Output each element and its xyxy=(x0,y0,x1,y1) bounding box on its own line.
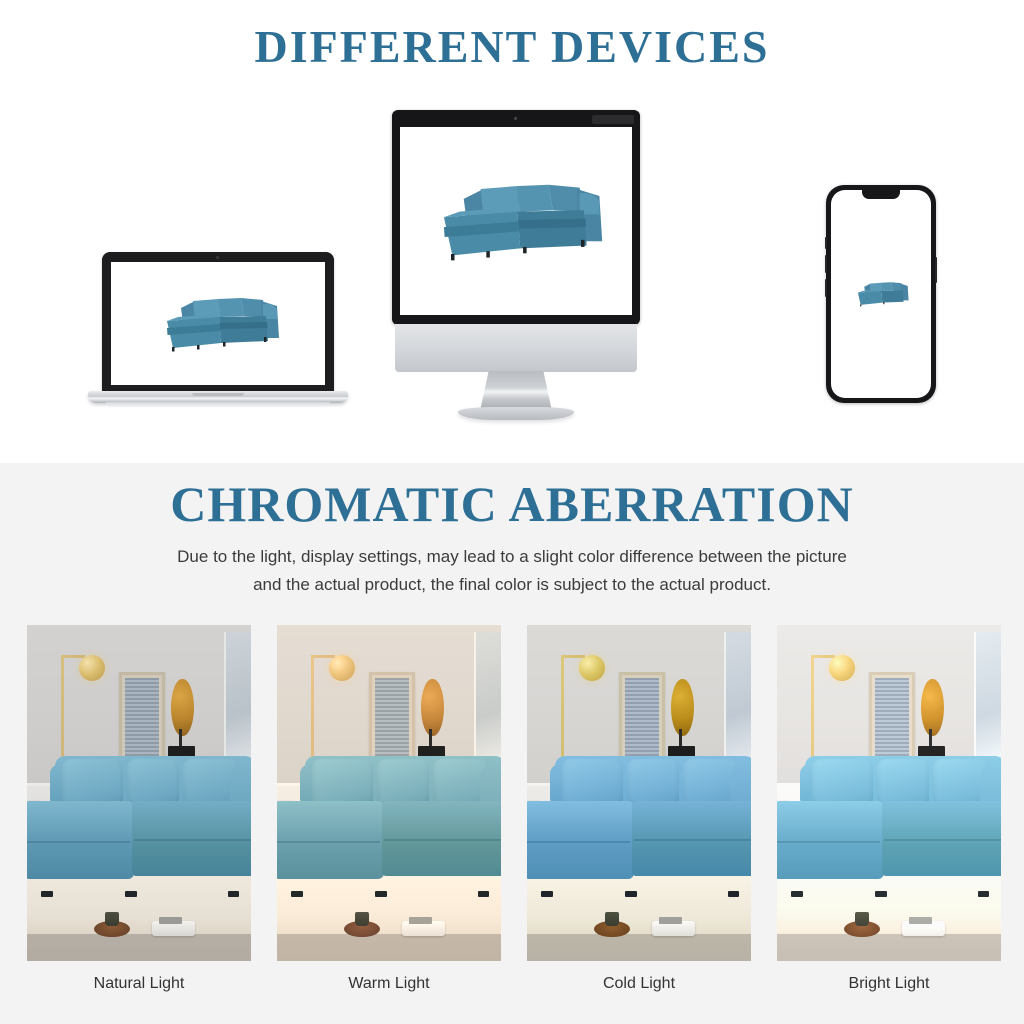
wall-artwork-right xyxy=(724,632,751,766)
seat-seam xyxy=(27,841,129,843)
artwork-canvas xyxy=(125,678,159,763)
tray-contents xyxy=(159,917,181,924)
phone-device xyxy=(826,185,936,403)
sphere-sculpture xyxy=(171,679,193,736)
floor-lamp-arm xyxy=(61,655,86,658)
coffee-cup xyxy=(855,912,868,925)
chromatic-aberration-description: Due to the light, display settings, may … xyxy=(100,543,924,599)
seat-seam xyxy=(777,841,879,843)
light-variant-label: Natural Light xyxy=(27,975,251,993)
seat-seam xyxy=(277,841,379,843)
monitor-chin xyxy=(395,324,637,372)
floor-lamp-arm xyxy=(311,655,336,658)
light-variant-item: Natural Light xyxy=(27,625,251,961)
description-line-1: Due to the light, display settings, may … xyxy=(100,543,924,571)
sofa-foot xyxy=(228,891,240,897)
room-scene xyxy=(277,625,501,961)
sofa-foot xyxy=(375,891,387,897)
wall-artwork-right xyxy=(224,632,251,766)
chaise-seat xyxy=(27,801,134,878)
laptop-device xyxy=(88,252,348,412)
phone-notch xyxy=(862,190,900,199)
coffee-cup xyxy=(605,912,618,925)
monitor-topbar-accent xyxy=(592,115,634,124)
light-variant-label: Cold Light xyxy=(527,975,751,993)
framed-artwork xyxy=(869,672,915,769)
floor-lamp-globe-icon xyxy=(329,655,355,681)
sectional-sofa xyxy=(777,756,1001,894)
artwork-canvas xyxy=(625,678,659,763)
product-listing-image: DIFFERENT DEVICES xyxy=(0,0,1024,1024)
framed-artwork xyxy=(119,672,165,769)
seat-seam xyxy=(527,841,629,843)
room-scene xyxy=(777,625,1001,961)
sofa-foot xyxy=(478,891,490,897)
monitor-stand-base xyxy=(458,407,574,420)
coffee-cup xyxy=(105,912,118,925)
phone-screen xyxy=(831,190,931,398)
light-variant-label: Warm Light xyxy=(277,975,501,993)
tray-contents xyxy=(659,917,681,924)
chaise-seat xyxy=(777,801,884,878)
different-devices-section: DIFFERENT DEVICES xyxy=(0,0,1024,463)
light-variant-item: Bright Light xyxy=(777,625,1001,961)
description-line-2: and the actual product, the final color … xyxy=(100,571,924,599)
sofa-image-phone xyxy=(831,190,931,398)
sectional-sofa xyxy=(27,756,251,894)
sofa-foot xyxy=(875,891,887,897)
seat-seam xyxy=(134,839,250,841)
sofa-foot xyxy=(978,891,990,897)
chromatic-aberration-title: CHROMATIC ABERRATION xyxy=(0,475,1024,533)
sofa-image-monitor xyxy=(400,127,632,315)
artwork-canvas xyxy=(875,678,909,763)
sofa-foot xyxy=(541,891,553,897)
room-photo-bright[interactable] xyxy=(777,625,1001,961)
floor-lamp-arm xyxy=(811,655,836,658)
room-photo-cold[interactable] xyxy=(527,625,751,961)
sofa-image-laptop xyxy=(111,262,325,385)
sofa-foot xyxy=(728,891,740,897)
monitor-lid xyxy=(392,110,640,325)
monitor-camera-icon xyxy=(514,117,517,120)
sectional-sofa xyxy=(277,756,501,894)
light-variant-item: Warm Light xyxy=(277,625,501,961)
phone-volume-down-button[interactable] xyxy=(825,279,827,297)
laptop-camera-icon xyxy=(216,256,219,259)
monitor-stand-neck xyxy=(480,371,552,411)
devices-stage xyxy=(0,100,1024,430)
room-photo-natural[interactable] xyxy=(27,625,251,961)
light-variant-gallery: Natural Light xyxy=(27,625,1001,961)
phone-frame xyxy=(826,185,936,403)
framed-artwork xyxy=(619,672,665,769)
wall-artwork-right xyxy=(974,632,1001,766)
laptop-foot xyxy=(106,402,330,407)
sofa-foot xyxy=(125,891,137,897)
sphere-sculpture xyxy=(921,679,943,736)
laptop-trackpad-notch xyxy=(192,393,244,396)
phone-silent-switch[interactable] xyxy=(825,237,827,249)
chromatic-aberration-section: CHROMATIC ABERRATION Due to the light, d… xyxy=(0,463,1024,1024)
seat-seam xyxy=(634,839,750,841)
tray-contents xyxy=(409,917,431,924)
wall-artwork-right xyxy=(474,632,501,766)
coffee-cup xyxy=(355,912,368,925)
room-photo-warm[interactable] xyxy=(277,625,501,961)
laptop-lid xyxy=(102,252,334,392)
artwork-canvas xyxy=(375,678,409,763)
seat-seam xyxy=(384,839,500,841)
monitor-screen xyxy=(400,127,632,315)
phone-volume-up-button[interactable] xyxy=(825,255,827,273)
tray-contents xyxy=(909,917,931,924)
monitor-device xyxy=(392,110,640,410)
sofa-foot xyxy=(291,891,303,897)
phone-power-button[interactable] xyxy=(935,257,937,283)
light-variant-item: Cold Light xyxy=(527,625,751,961)
seat-seam xyxy=(884,839,1000,841)
light-variant-label: Bright Light xyxy=(777,975,1001,993)
floor-lamp-globe-icon xyxy=(79,655,105,681)
room-scene xyxy=(27,625,251,961)
room-scene xyxy=(527,625,751,961)
framed-artwork xyxy=(369,672,415,769)
sectional-sofa xyxy=(527,756,751,894)
floor-lamp-globe-icon xyxy=(579,655,605,681)
chaise-seat xyxy=(277,801,384,878)
floor-lamp-globe-icon xyxy=(829,655,855,681)
sofa-foot xyxy=(625,891,637,897)
sofa-foot xyxy=(791,891,803,897)
laptop-screen xyxy=(111,262,325,385)
different-devices-title: DIFFERENT DEVICES xyxy=(0,20,1024,73)
chaise-seat xyxy=(527,801,634,878)
sphere-sculpture xyxy=(421,679,443,736)
floor-lamp-arm xyxy=(561,655,586,658)
sofa-foot xyxy=(41,891,53,897)
sphere-sculpture xyxy=(671,679,693,736)
